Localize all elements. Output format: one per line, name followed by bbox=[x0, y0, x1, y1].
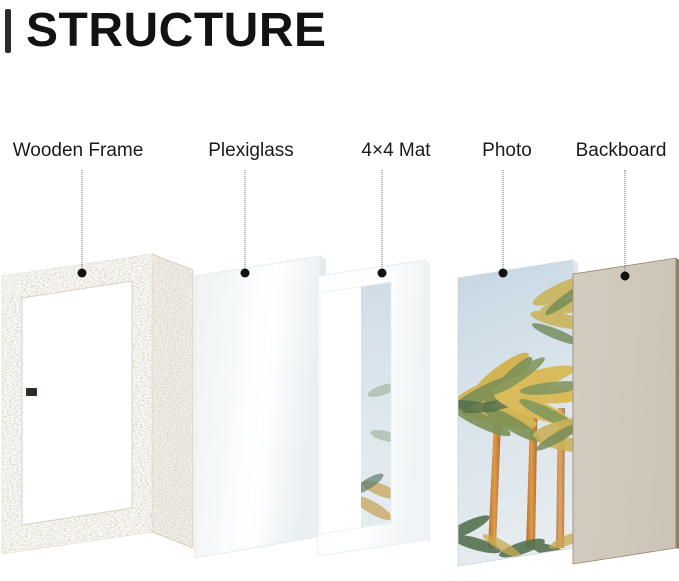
frame-clip bbox=[26, 388, 37, 396]
part-label-plexiglass: Plexiglass bbox=[208, 140, 294, 162]
leader-line-mat bbox=[382, 170, 383, 273]
leader-dot-plexiglass bbox=[241, 269, 250, 278]
part-mat bbox=[313, 240, 468, 576]
leader-line-plexiglass bbox=[245, 170, 246, 273]
leader-dot-photo bbox=[499, 269, 508, 278]
part-plexiglass bbox=[190, 236, 330, 576]
part-label-wooden-frame: Wooden Frame bbox=[13, 140, 144, 162]
leader-line-wooden-frame bbox=[82, 170, 83, 273]
leader-line-photo bbox=[503, 170, 504, 273]
part-wooden-frame bbox=[0, 232, 200, 577]
leader-dot-mat bbox=[378, 269, 387, 278]
part-label-mat: 4×4 Mat bbox=[361, 140, 430, 162]
leader-line-backboard bbox=[625, 170, 626, 276]
exploded-view-diagram: Wooden FramePlexiglass4×4 MatPhotoBackbo… bbox=[0, 0, 679, 574]
part-backboard bbox=[568, 252, 679, 576]
part-label-backboard: Backboard bbox=[576, 140, 667, 162]
part-label-photo: Photo bbox=[482, 140, 532, 162]
part-photo bbox=[452, 248, 580, 576]
leader-dot-backboard bbox=[621, 272, 630, 281]
leader-dot-wooden-frame bbox=[78, 269, 87, 278]
frame-side-profile bbox=[152, 254, 193, 548]
